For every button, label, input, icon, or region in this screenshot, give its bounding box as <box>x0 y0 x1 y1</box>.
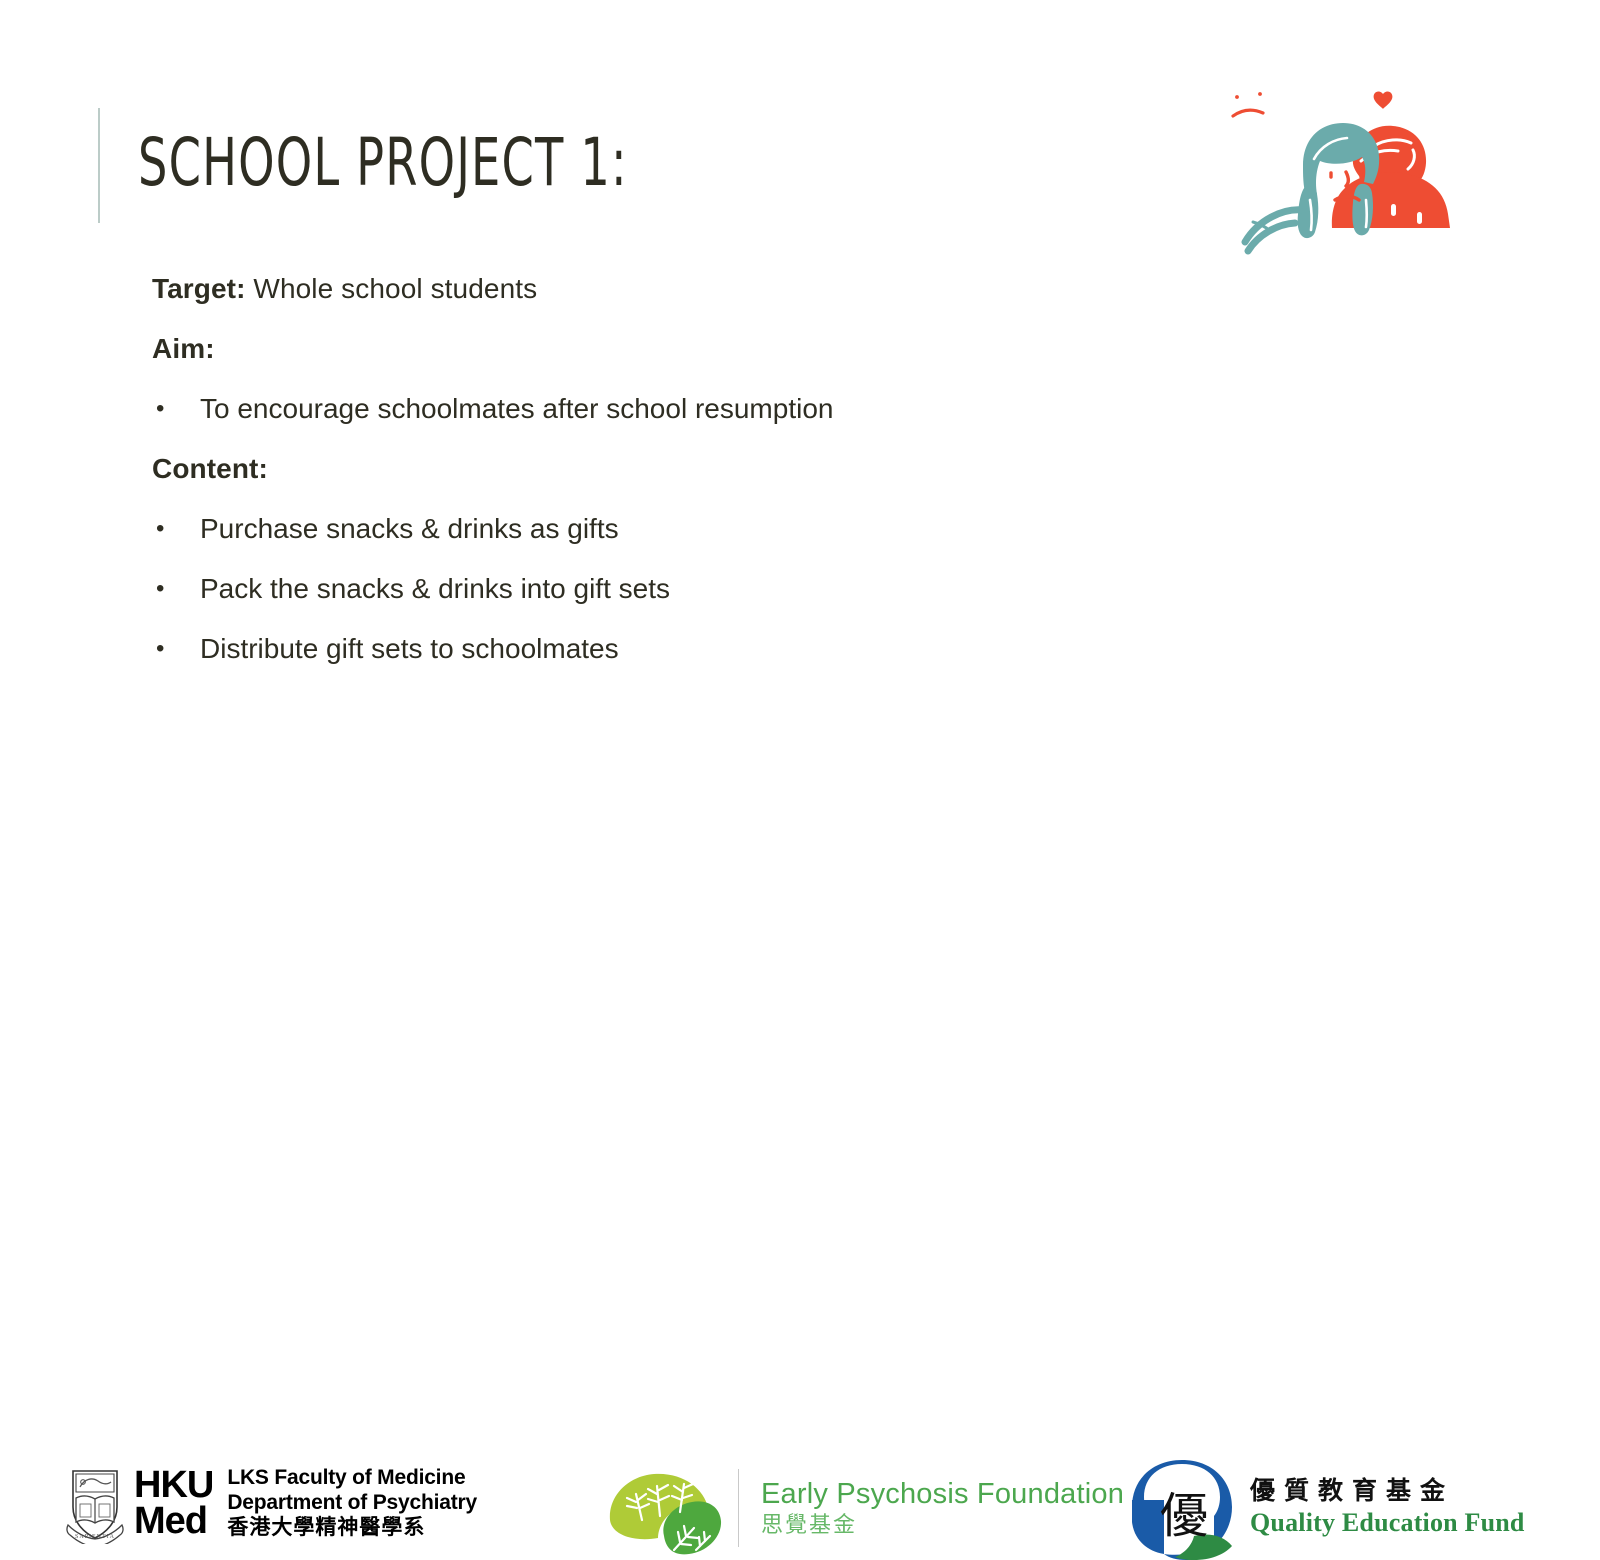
aim-row: Aim: <box>152 332 1152 366</box>
list-item: • To encourage schoolmates after school … <box>152 392 1152 426</box>
aim-label: Aim: <box>152 333 215 364</box>
hku-med-logo: SAPIENTIA HKU Med LKS Faculty of Medicin… <box>66 1462 477 1544</box>
teal-hair-figure <box>1245 123 1379 251</box>
slide: SCHOOL PROJECT 1: Target: Whole school s… <box>0 0 1600 900</box>
hku-wordmark-line2: Med <box>134 1503 213 1539</box>
list-item: • Pack the snacks & drinks into gift set… <box>152 572 1152 606</box>
target-label: Target: <box>152 273 246 304</box>
epf-name-en: Early Psychosis Foundation <box>761 1477 1124 1511</box>
epf-name-cn: 思覺基金 <box>761 1511 1124 1539</box>
hku-faculty-line: LKS Faculty of Medicine <box>227 1465 477 1490</box>
page-title: SCHOOL PROJECT 1: <box>138 126 628 200</box>
list-item: • Distribute gift sets to schoolmates <box>152 632 1152 666</box>
hku-chinese-line: 香港大學精神醫學系 <box>227 1515 477 1541</box>
content-label: Content: <box>152 453 268 484</box>
heart-doodle <box>1374 92 1393 109</box>
body-content: Target: Whole school students Aim: • To … <box>152 272 1152 692</box>
list-item: • Purchase snacks & drinks as gifts <box>152 512 1152 546</box>
target-value: Whole school students <box>253 273 537 304</box>
aim-bullet-text: To encourage schoolmates after school re… <box>200 392 833 426</box>
qef-mark-glyph: 優 <box>1160 1490 1208 1543</box>
target-row: Target: Whole school students <box>152 272 1152 306</box>
title-accent-bar <box>98 108 100 223</box>
early-psychosis-foundation-logo: Early Psychosis Foundation 思覺基金 <box>604 1458 1124 1558</box>
hku-wordmark: HKU Med <box>134 1467 213 1539</box>
hku-wordmark-line1: HKU <box>134 1467 213 1503</box>
epf-leaf-icon <box>604 1458 722 1558</box>
svg-text:SAPIENTIA: SAPIENTIA <box>75 1534 115 1540</box>
epf-text: Early Psychosis Foundation 思覺基金 <box>761 1477 1124 1539</box>
content-bullet-text: Purchase snacks & drinks as gifts <box>200 512 619 546</box>
hku-med-text: LKS Faculty of Medicine Department of Ps… <box>227 1465 477 1541</box>
two-people-comforting-illustration <box>1175 60 1475 260</box>
hku-crest-icon: SAPIENTIA <box>66 1462 124 1544</box>
bullet-icon: • <box>152 512 200 546</box>
bullet-icon: • <box>152 392 200 426</box>
bullet-icon: • <box>152 572 200 606</box>
footer-logos: SAPIENTIA HKU Med LKS Faculty of Medicin… <box>0 726 1600 846</box>
qef-name-cn: 優質教育基金 <box>1250 1476 1525 1508</box>
content-bullet-text: Pack the snacks & drinks into gift sets <box>200 572 670 606</box>
content-bullet-text: Distribute gift sets to schoolmates <box>200 632 619 666</box>
qef-q-icon: 優 <box>1122 1454 1238 1560</box>
qef-text: 優質教育基金 Quality Education Fund <box>1250 1476 1525 1538</box>
content-row: Content: <box>152 452 1152 486</box>
sad-face-doodle <box>1233 92 1263 116</box>
bullet-icon: • <box>152 632 200 666</box>
quality-education-fund-logo: 優 優質教育基金 Quality Education Fund <box>1122 1454 1525 1560</box>
qef-name-en: Quality Education Fund <box>1250 1508 1525 1538</box>
epf-divider <box>738 1469 739 1547</box>
hku-department-line: Department of Psychiatry <box>227 1490 477 1515</box>
